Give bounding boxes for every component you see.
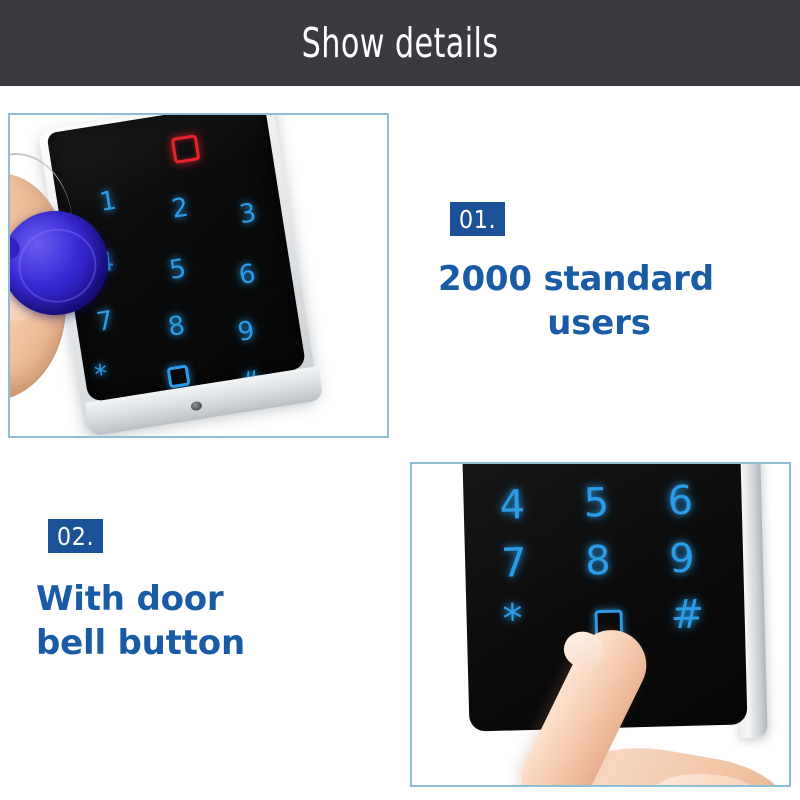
feature-headline-1-line-2: users bbox=[430, 302, 750, 346]
feature-headline-2-line-2: bell button bbox=[36, 622, 366, 666]
keypad-key-4[interactable]: 4 bbox=[499, 482, 526, 529]
keypad-key-2[interactable]: 2 bbox=[170, 193, 191, 225]
feature-headline-2-line-1: With door bbox=[36, 578, 366, 622]
keypad-key-7[interactable]: 7 bbox=[501, 540, 528, 587]
keypad-key-5[interactable]: 5 bbox=[167, 254, 188, 286]
product-photo-frame-2: 4 5 6 7 8 9 * # bbox=[410, 462, 791, 787]
feature-number-badge-2: 02. bbox=[48, 519, 103, 553]
hand-holding-keyfob bbox=[8, 163, 146, 413]
status-indicator-icon bbox=[171, 134, 201, 164]
feature-headline-2: With door bell button bbox=[36, 578, 366, 665]
product-photo-2: 4 5 6 7 8 9 * # bbox=[412, 464, 789, 785]
hand-pressing-doorbell bbox=[550, 624, 790, 787]
feature-number-badge-1: 01. bbox=[450, 202, 505, 236]
page-title: Show details bbox=[302, 19, 499, 67]
keypad-key-square-icon[interactable] bbox=[167, 364, 191, 388]
keypad-key-3[interactable]: 3 bbox=[237, 198, 258, 230]
page-header: Show details bbox=[0, 0, 800, 86]
keypad-key-5[interactable]: 5 bbox=[583, 480, 610, 527]
keypad-key-9[interactable]: 9 bbox=[236, 316, 257, 348]
keypad-key-9[interactable]: 9 bbox=[669, 536, 696, 583]
feature-headline-1: 2000 standard users bbox=[430, 258, 750, 345]
product-photo-1: 1 2 3 4 5 6 7 8 9 * # bbox=[10, 115, 387, 436]
rfid-keyfob bbox=[8, 204, 115, 322]
keypad-key-asterisk[interactable]: * bbox=[502, 596, 523, 643]
keypad-key-6[interactable]: 6 bbox=[667, 478, 694, 525]
keypad-key-8[interactable]: 8 bbox=[166, 311, 187, 343]
product-photo-frame-1: 1 2 3 4 5 6 7 8 9 * # bbox=[8, 113, 389, 438]
keypad-key-6[interactable]: 6 bbox=[237, 259, 258, 291]
feature-headline-1-line-1: 2000 standard bbox=[430, 258, 750, 302]
keyfob-ring-detail bbox=[14, 224, 102, 308]
keypad-key-8[interactable]: 8 bbox=[585, 538, 612, 585]
